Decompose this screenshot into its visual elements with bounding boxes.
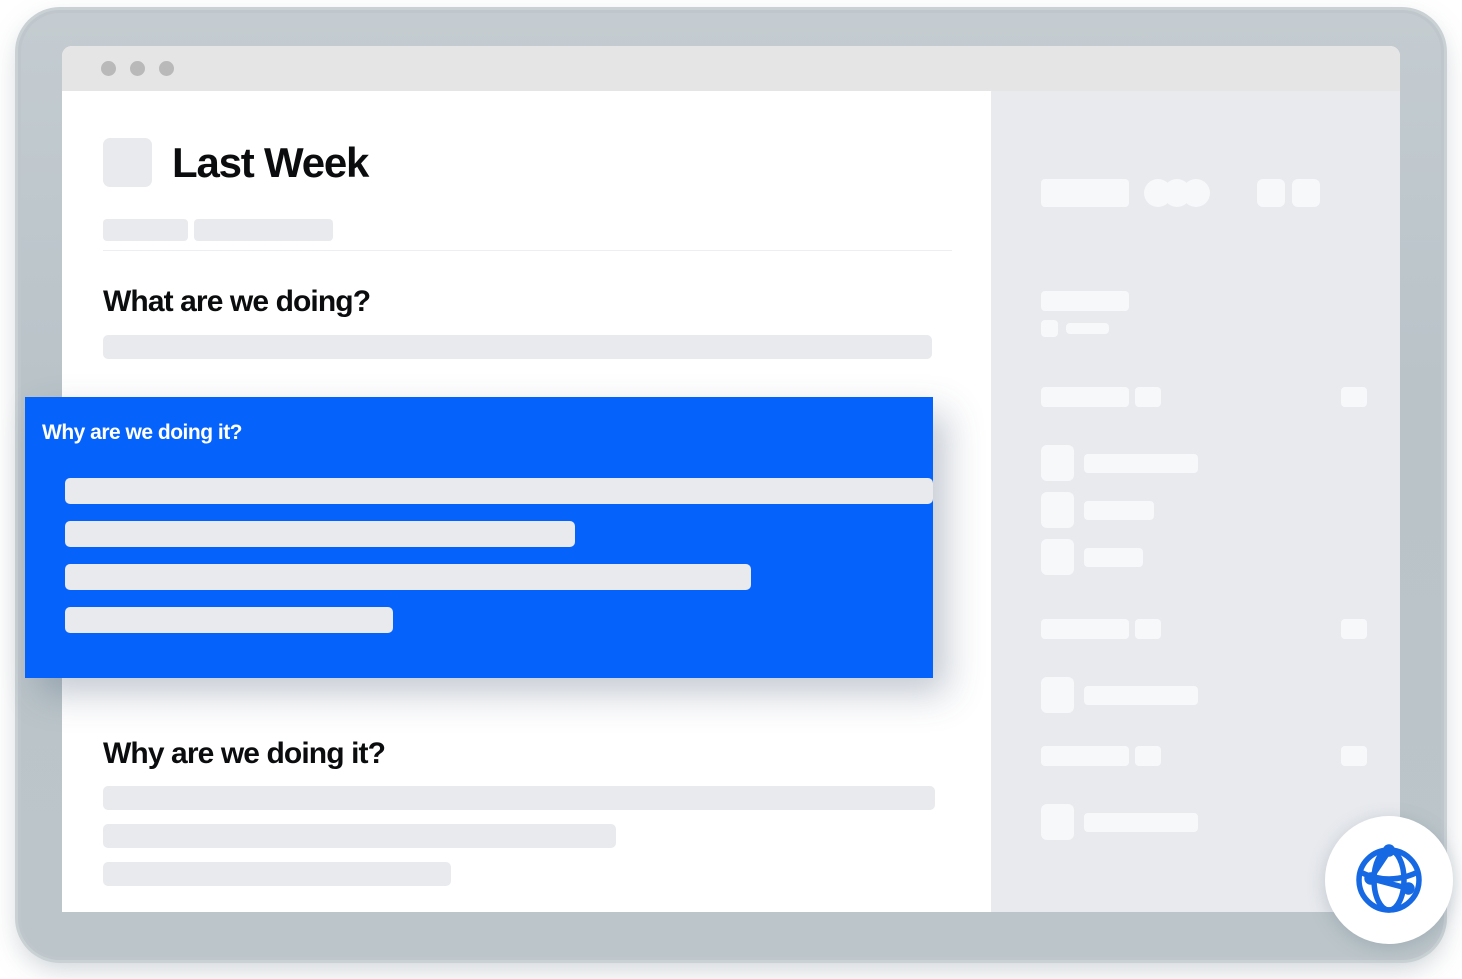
sidebar-list-item[interactable] (1041, 804, 1198, 840)
meta-chip-2[interactable] (194, 219, 333, 241)
sidebar-group-header (1041, 746, 1198, 766)
avatar-group[interactable] (1144, 179, 1210, 207)
sidebar-item-label-placeholder (1084, 454, 1198, 473)
sidebar-group-right-pill[interactable] (1341, 619, 1367, 639)
close-dot-icon[interactable] (101, 61, 116, 76)
sidebar-group-count-pill (1135, 619, 1161, 639)
sidebar-list-item[interactable] (1041, 445, 1198, 481)
sidebar-group-title-placeholder (1041, 291, 1129, 311)
overlay-comment-card[interactable]: Why are we doing it? (25, 397, 933, 678)
sidebar-group-right-pill[interactable] (1341, 746, 1367, 766)
sidebar-group-title-placeholder (1041, 746, 1129, 766)
section-heading-what: What are we doing? (103, 287, 991, 317)
maximize-dot-icon[interactable] (159, 61, 174, 76)
sidebar-item-thumb (1041, 445, 1074, 481)
sidebar-item-label-placeholder (1084, 686, 1198, 705)
section-why-block: Why are we doing it? (103, 739, 935, 886)
sidebar-group-header (1041, 291, 1129, 311)
sidebar-item-thumb (1041, 677, 1074, 713)
sidebar-group-title-placeholder (1041, 387, 1129, 407)
sidebar-pane (991, 91, 1400, 912)
meta-chip-1[interactable] (103, 219, 188, 241)
section-skeleton-why (103, 786, 935, 886)
skeleton-line (103, 786, 935, 810)
sidebar-action-2-button[interactable] (1292, 179, 1320, 207)
section-heading-why: Why are we doing it? (103, 739, 935, 769)
sidebar-item-thumb (1041, 539, 1074, 575)
sidebar-header-title-placeholder (1041, 179, 1129, 207)
sidebar-group-title-placeholder (1041, 619, 1129, 639)
sidebar-group-header (1041, 619, 1198, 639)
sidebar-group-count-pill (1135, 387, 1161, 407)
sidebar-group-3 (1041, 619, 1198, 713)
sidebar-list-item[interactable] (1041, 677, 1198, 713)
traffic-light-dots (101, 61, 174, 76)
document-meta-chips (103, 219, 991, 241)
brand-badge[interactable] (1325, 816, 1453, 944)
sidebar-list-item[interactable] (1041, 539, 1198, 575)
skeleton-line (103, 335, 932, 359)
overlay-skeleton-line (65, 607, 393, 633)
overlay-skeleton-line (65, 478, 933, 504)
sidebar-group-1 (1041, 291, 1129, 337)
browser-titlebar (62, 46, 1400, 91)
sidebar-group-header (1041, 387, 1198, 407)
sidebar-header-actions (1257, 179, 1320, 207)
sidebar-header (1041, 179, 1210, 207)
overlay-skeleton-line (65, 521, 575, 547)
sidebar-group-count-pill (1135, 746, 1161, 766)
page-title: Last Week (172, 142, 368, 184)
sidebar-item-label-placeholder (1084, 813, 1198, 832)
overlay-skeleton-line (65, 564, 751, 590)
sidebar-group-2 (1041, 387, 1198, 575)
sidebar-item-thumb (1041, 804, 1074, 840)
sidebar-action-1-button[interactable] (1257, 179, 1285, 207)
avatar[interactable] (1182, 179, 1210, 207)
sidebar-group-right-pill[interactable] (1341, 387, 1367, 407)
sidebar-mini-icon (1041, 320, 1058, 337)
sidebar-mini-row[interactable] (1041, 320, 1129, 337)
sidebar-item-thumb (1041, 492, 1074, 528)
section-skeleton-what (103, 335, 991, 359)
document-title-row: Last Week (103, 138, 991, 187)
overlay-card-title: Why are we doing it? (42, 421, 242, 445)
overlay-card-skeleton (65, 478, 933, 633)
sidebar-mini-label-placeholder (1066, 323, 1109, 334)
title-divider (103, 250, 952, 251)
skeleton-line (103, 862, 451, 886)
sidebar-item-label-placeholder (1084, 548, 1143, 567)
doc-placeholder-icon (103, 138, 152, 187)
sidebar-item-label-placeholder (1084, 501, 1154, 520)
sidebar-group-4 (1041, 746, 1198, 840)
sidebar-list-item[interactable] (1041, 492, 1198, 528)
skeleton-line (103, 824, 616, 848)
globe-network-logo-icon (1349, 840, 1429, 920)
minimize-dot-icon[interactable] (130, 61, 145, 76)
